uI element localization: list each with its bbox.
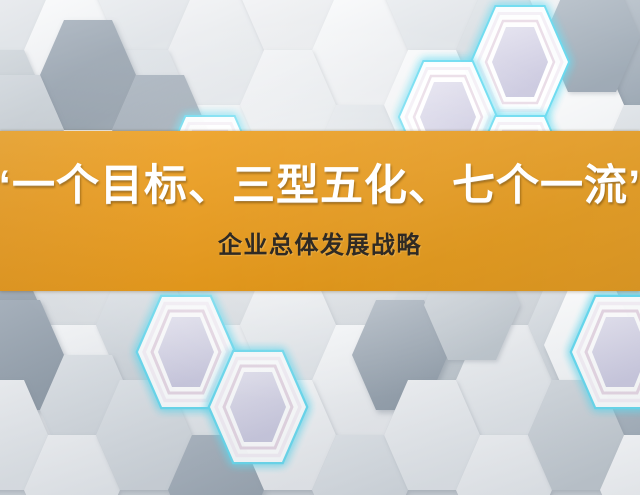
banner-title: “一个目标、三型五化、七个一流” xyxy=(0,164,640,209)
slide-canvas: “一个目标、三型五化、七个一流” 企业总体发展战略 xyxy=(0,0,640,495)
title-banner: “一个目标、三型五化、七个一流” 企业总体发展战略 xyxy=(0,131,640,291)
banner-subtitle: 企业总体发展战略 xyxy=(218,225,422,260)
